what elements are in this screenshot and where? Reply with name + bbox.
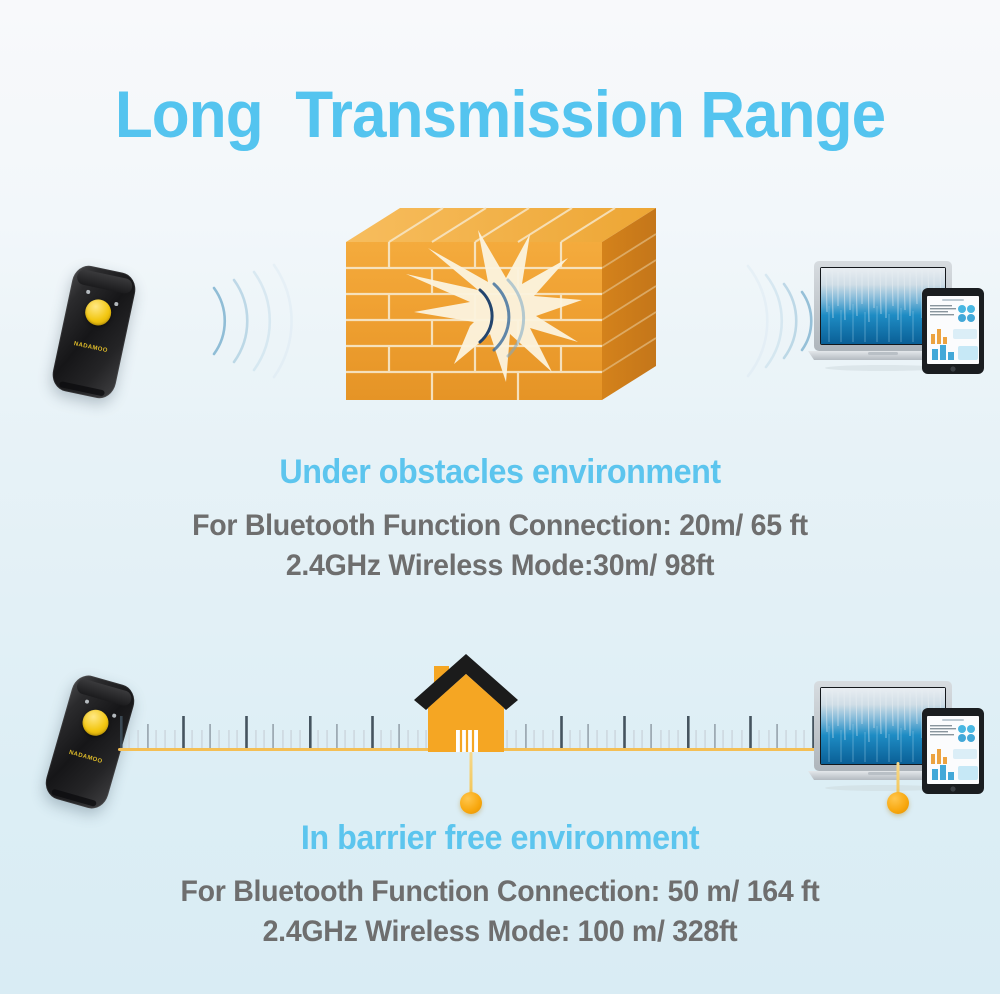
distance-marker-house <box>460 752 482 804</box>
signal-waves-left-top <box>196 262 314 380</box>
house <box>410 648 522 754</box>
section-2-heading: In barrier free environment <box>25 818 975 858</box>
distance-marker-laptop <box>887 762 909 804</box>
section-2-line-1: For Bluetooth Function Connection: 50 m/… <box>25 872 975 912</box>
laptop-tablet-group-top <box>806 256 992 386</box>
section-2-line-2: 2.4GHz Wireless Mode: 100 m/ 328ft <box>25 912 975 952</box>
marker-dot <box>460 792 482 814</box>
marker-dot <box>887 792 909 814</box>
section-1-heading: Under obstacles environment <box>25 452 975 492</box>
section-1-line-1: For Bluetooth Function Connection: 20m/ … <box>25 506 975 546</box>
brick-wall-obstacle <box>330 196 682 418</box>
page-title: Long Transmission Range <box>30 78 970 150</box>
section-1-line-2: 2.4GHz Wireless Mode:30m/ 98ft <box>25 546 975 586</box>
barcode-scanner-top: NADAMOO <box>49 263 138 402</box>
infographic-stage: Long Transmission Range NADAMOO <box>0 0 1000 994</box>
